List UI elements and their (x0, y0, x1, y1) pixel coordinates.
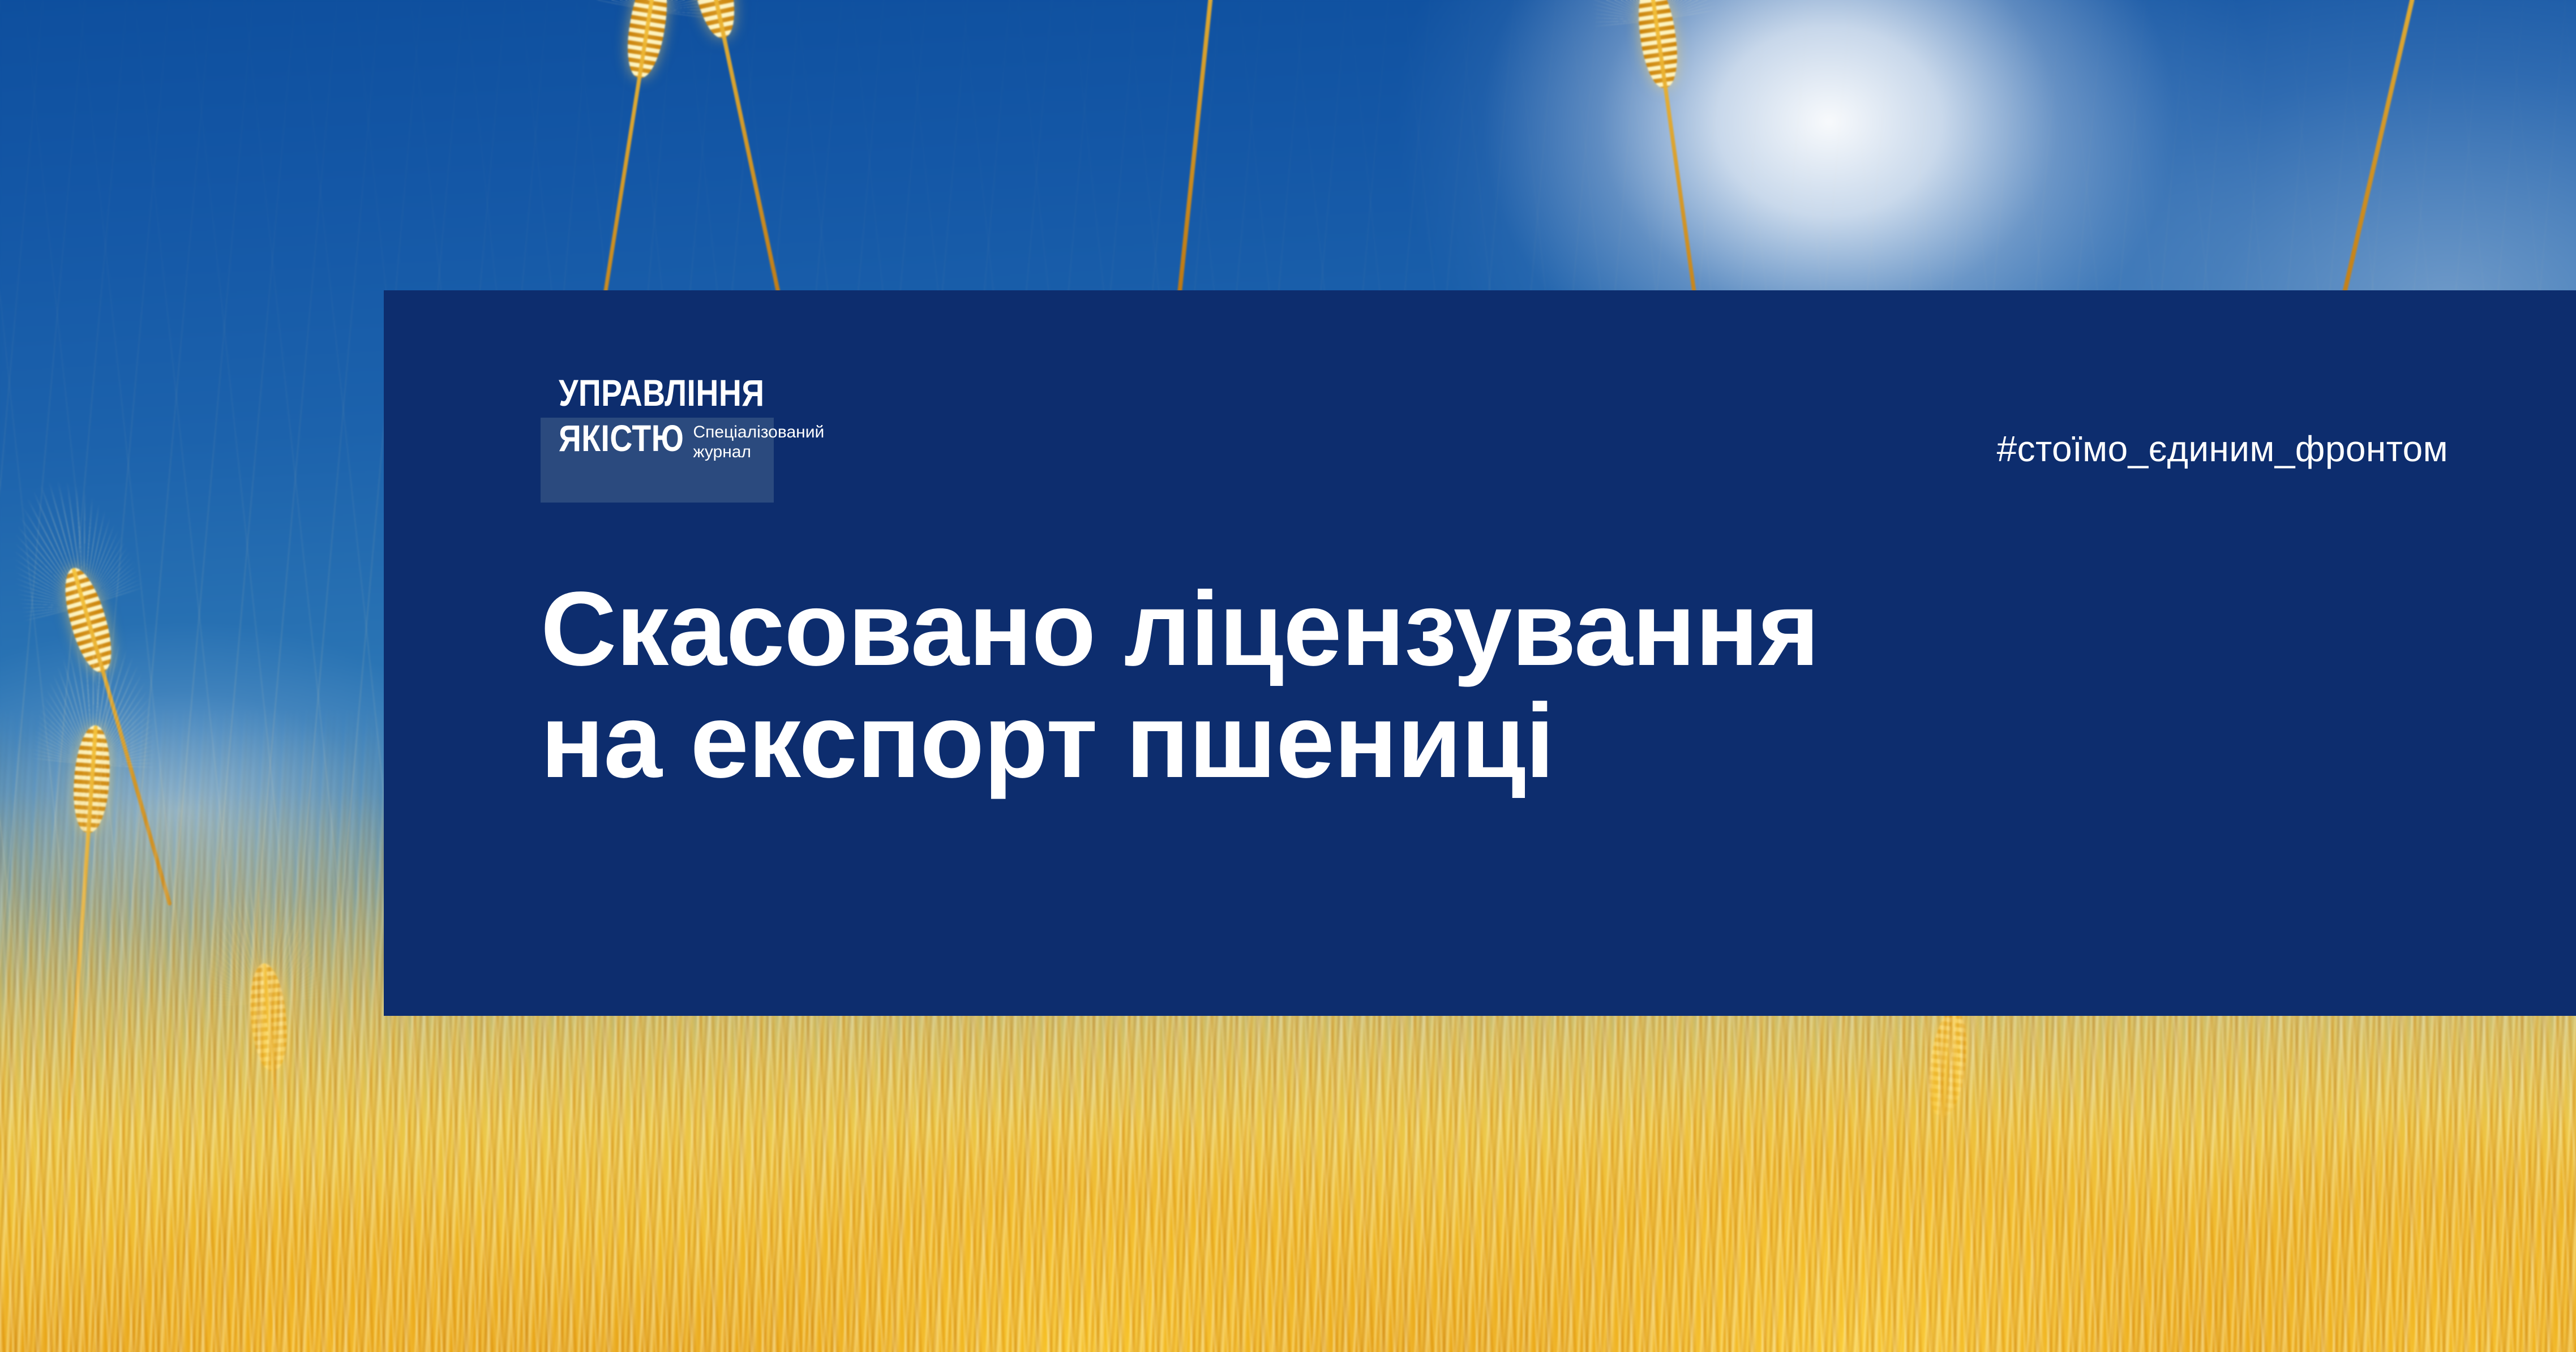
magazine-logo[interactable]: УПРАВЛІННЯ ЯКІСТЮ Спеціалізований журнал (541, 374, 982, 462)
content-panel: УПРАВЛІННЯ ЯКІСТЮ Спеціалізований журнал… (384, 290, 2576, 1016)
logo-word-upravlinnia: УПРАВЛІННЯ (559, 374, 914, 411)
logo-word-yakistiu: ЯКІСТЮ (559, 419, 684, 457)
headline-line-1: Скасовано ліцензування (541, 573, 2408, 685)
hashtag-label[interactable]: #стоїмо_єдиним_фронтом (1997, 431, 2448, 467)
logo-subtitle: Спеціалізований журнал (693, 422, 824, 462)
logo-second-row: ЯКІСТЮ Спеціалізований журнал (559, 419, 982, 462)
logo-subtitle-line2: журнал (693, 443, 751, 461)
social-card-canvas: УПРАВЛІННЯ ЯКІСТЮ Спеціалізований журнал… (0, 0, 2576, 1352)
headline-line-2: на експорт пшениці (541, 685, 2408, 797)
logo-subtitle-line1: Спеціалізований (693, 423, 824, 441)
headline: Скасовано ліцензування на експорт пшениц… (541, 573, 2408, 797)
